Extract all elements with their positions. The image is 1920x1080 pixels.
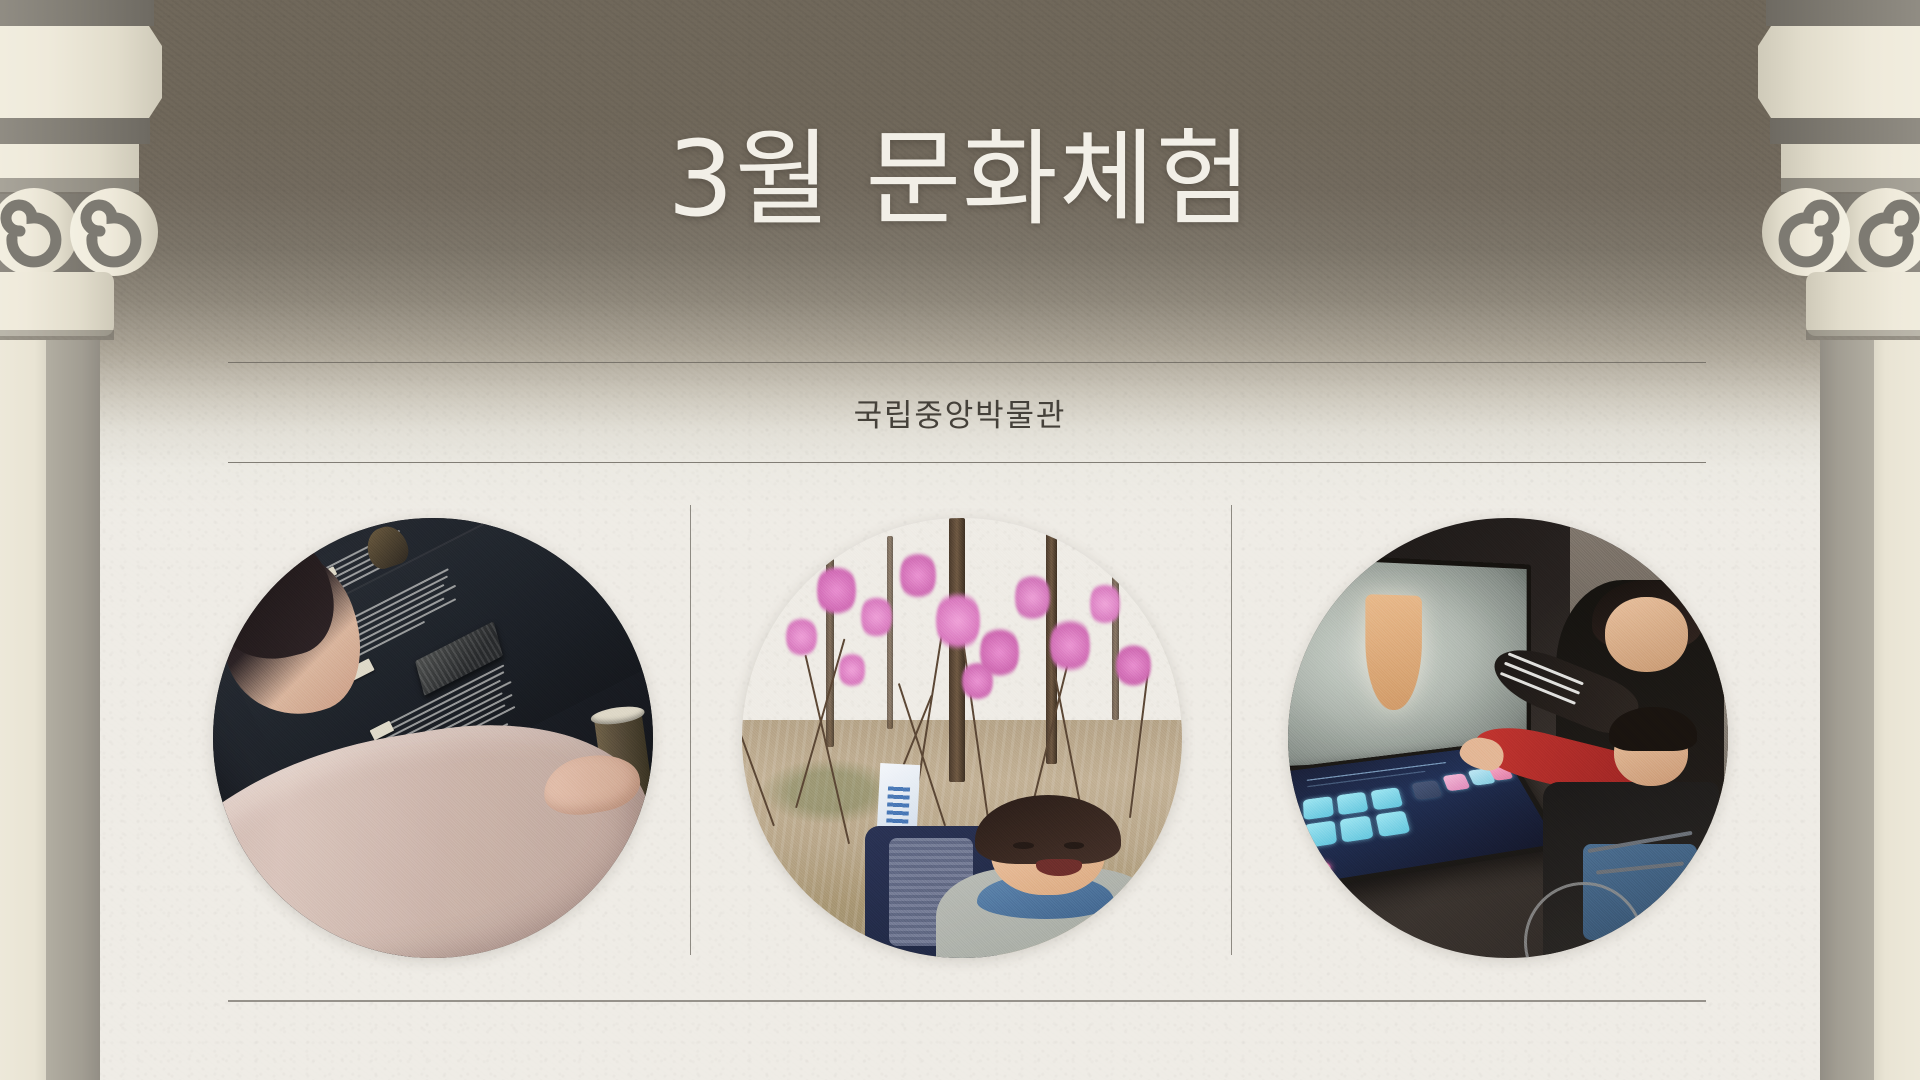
horizontal-rule-middle bbox=[228, 462, 1706, 463]
vertical-divider-2 bbox=[1231, 505, 1232, 955]
tactile-exhibit-photo[interactable] bbox=[213, 518, 653, 958]
vertical-divider-1 bbox=[690, 505, 691, 955]
subtitle-venue: 국립중앙박물관 bbox=[0, 390, 1920, 435]
photo-2-content bbox=[742, 518, 1182, 958]
slide-canvas: 3월 문화체험 국립중앙박물관 bbox=[0, 0, 1920, 1080]
page-title: 3월 문화체험 bbox=[0, 118, 1920, 241]
photo-3-content bbox=[1288, 518, 1728, 958]
spring-outdoor-photo[interactable] bbox=[742, 518, 1182, 958]
horizontal-rule-bottom bbox=[228, 1000, 1706, 1002]
interactive-touchscreen-photo[interactable] bbox=[1288, 518, 1728, 958]
horizontal-rule-top bbox=[228, 362, 1706, 363]
photo-1-content bbox=[213, 518, 653, 958]
